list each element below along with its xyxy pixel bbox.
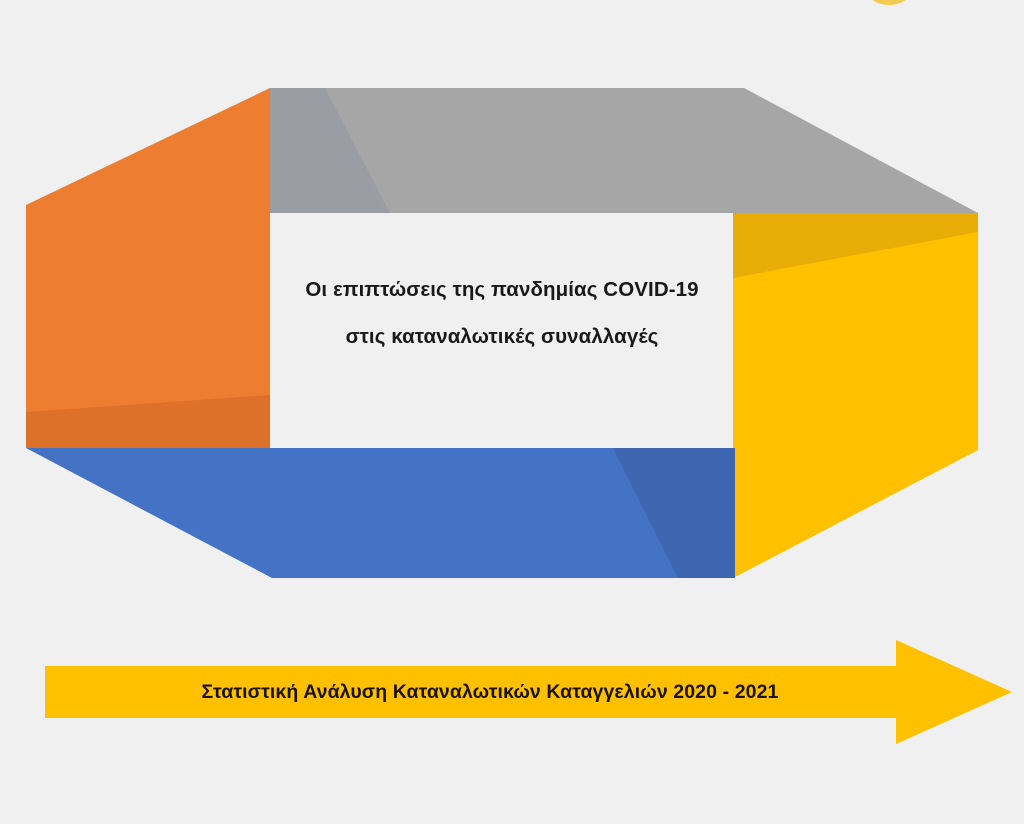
open-box-graphic	[0, 0, 1024, 824]
yellow-arc-sliver-icon	[867, 0, 911, 5]
box-right-panel	[733, 213, 978, 578]
banner-arrow-shape[interactable]	[45, 640, 1012, 744]
box-left-panel	[26, 88, 270, 448]
box-bottom-panel	[26, 448, 735, 578]
slide-canvas: Οι επιπτώσεις της πανδημίας COVID-19 στι…	[0, 0, 1024, 824]
box-top-panel	[270, 88, 978, 213]
